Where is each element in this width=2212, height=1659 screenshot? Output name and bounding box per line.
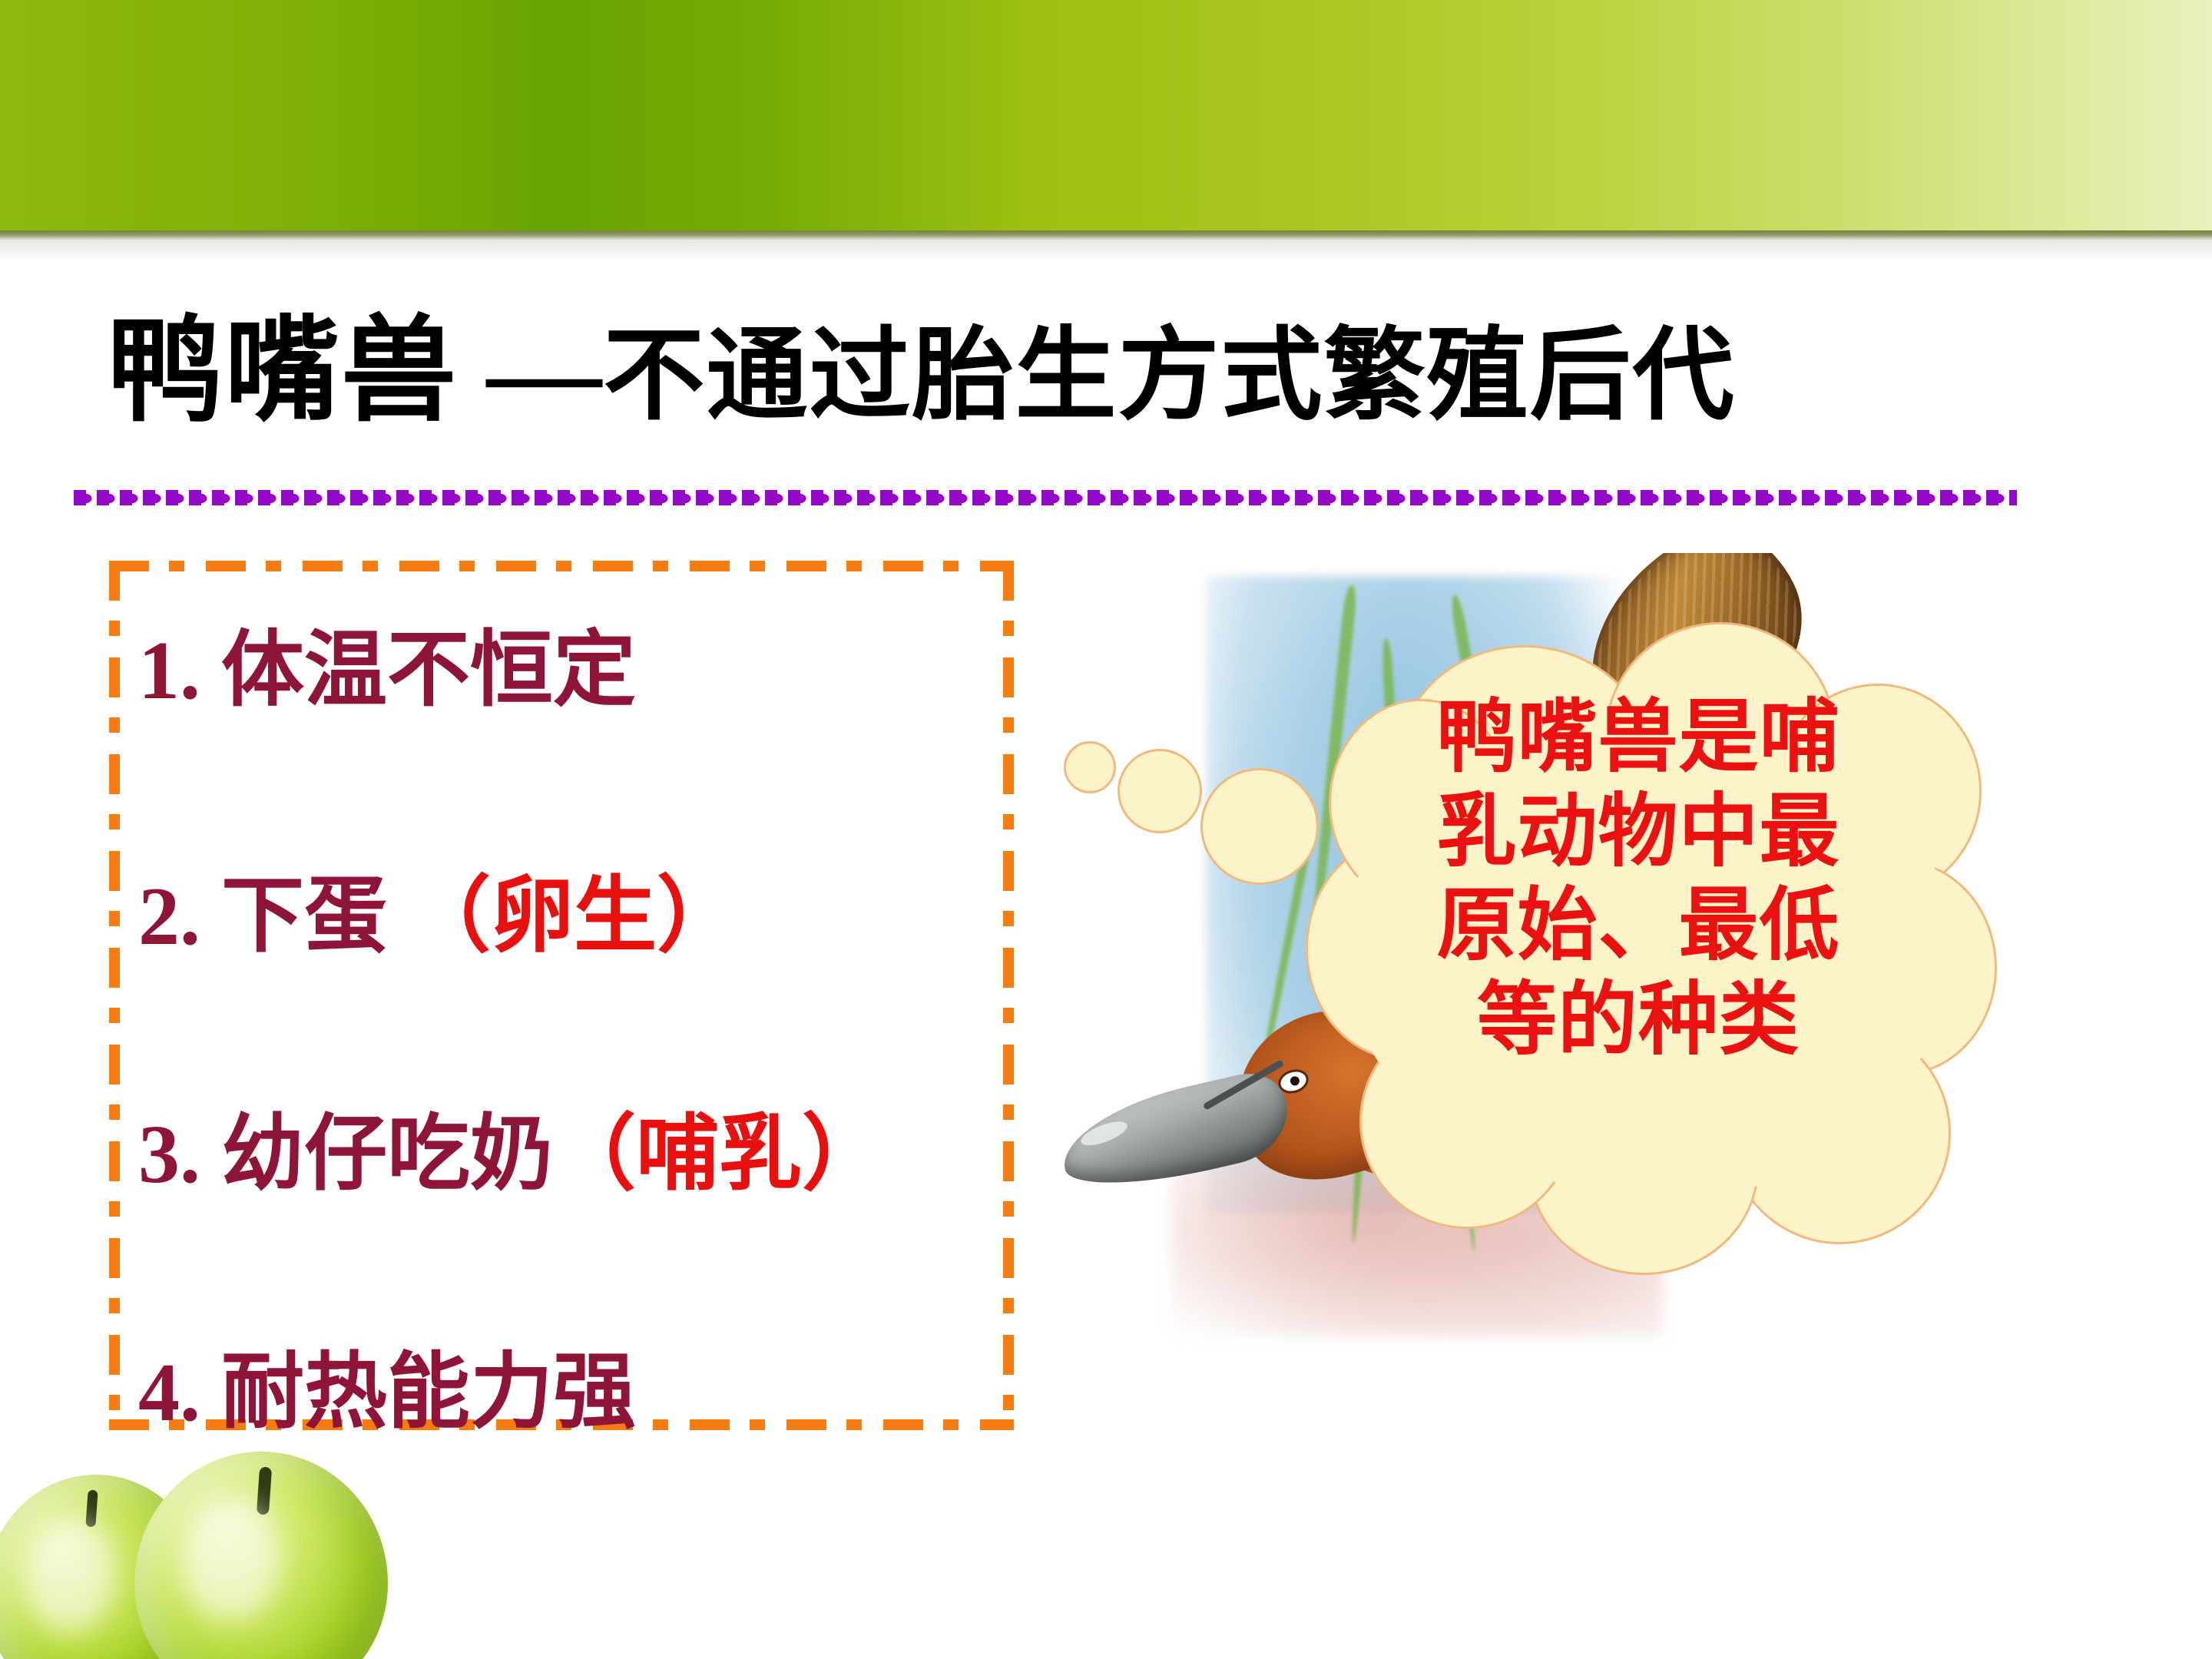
list-item: 3. 幼仔吃奶（哺乳） — [138, 1114, 885, 1197]
list-item-number: 2. — [138, 871, 200, 962]
list-item-label: 耐热能力强 — [221, 1347, 636, 1439]
list-item-highlight: （卵生） — [408, 871, 740, 962]
slide-canvas: 鸭嘴兽 —不通过胎生方式繁殖后代 1. 体温不恒定 2. 下蛋 （卵生） 3. … — [0, 0, 2212, 1659]
title-dash: — — [487, 308, 604, 435]
cloud-line: 乳动物中最 — [1358, 786, 1919, 880]
list-item: 4. 耐热能力强 — [138, 1352, 636, 1435]
list-item-highlight: （哺乳） — [553, 1109, 885, 1200]
list-item: 1. 体温不恒定 — [138, 630, 636, 713]
list-item: 2. 下蛋 （卵生） — [138, 876, 740, 959]
apples-decoration — [0, 1444, 445, 1659]
header-shadow — [0, 241, 2212, 261]
list-item-label: 幼仔吃奶 — [221, 1109, 553, 1200]
thought-bubble-small — [1064, 741, 1116, 793]
list-item-number: 4. — [138, 1347, 200, 1439]
list-item-label: 下蛋 — [221, 871, 408, 962]
apple-highlight — [23, 1517, 115, 1632]
list-item-number: 1. — [138, 625, 200, 717]
cloud-line: 原始、最低 — [1358, 879, 1919, 974]
cloud-line: 等的种类 — [1358, 974, 1919, 1068]
title-divider — [74, 490, 2017, 507]
cloud-line: 鸭嘴兽是哺 — [1358, 691, 1919, 786]
header-green-band — [0, 0, 2212, 230]
page-title: 鸭嘴兽 —不通过胎生方式繁殖后代 — [108, 292, 2028, 453]
apple-highlight — [180, 1498, 280, 1621]
thought-cloud-text: 鸭嘴兽是哺 乳动物中最 原始、最低 等的种类 — [1358, 691, 1919, 1068]
title-predicate: 不通过胎生方式繁殖后代 — [604, 320, 1736, 432]
thought-bubble-medium — [1118, 749, 1202, 833]
list-item-label: 体温不恒定 — [221, 625, 636, 717]
list-item-number: 3. — [138, 1109, 200, 1200]
title-subject: 鸭嘴兽 — [108, 308, 458, 435]
